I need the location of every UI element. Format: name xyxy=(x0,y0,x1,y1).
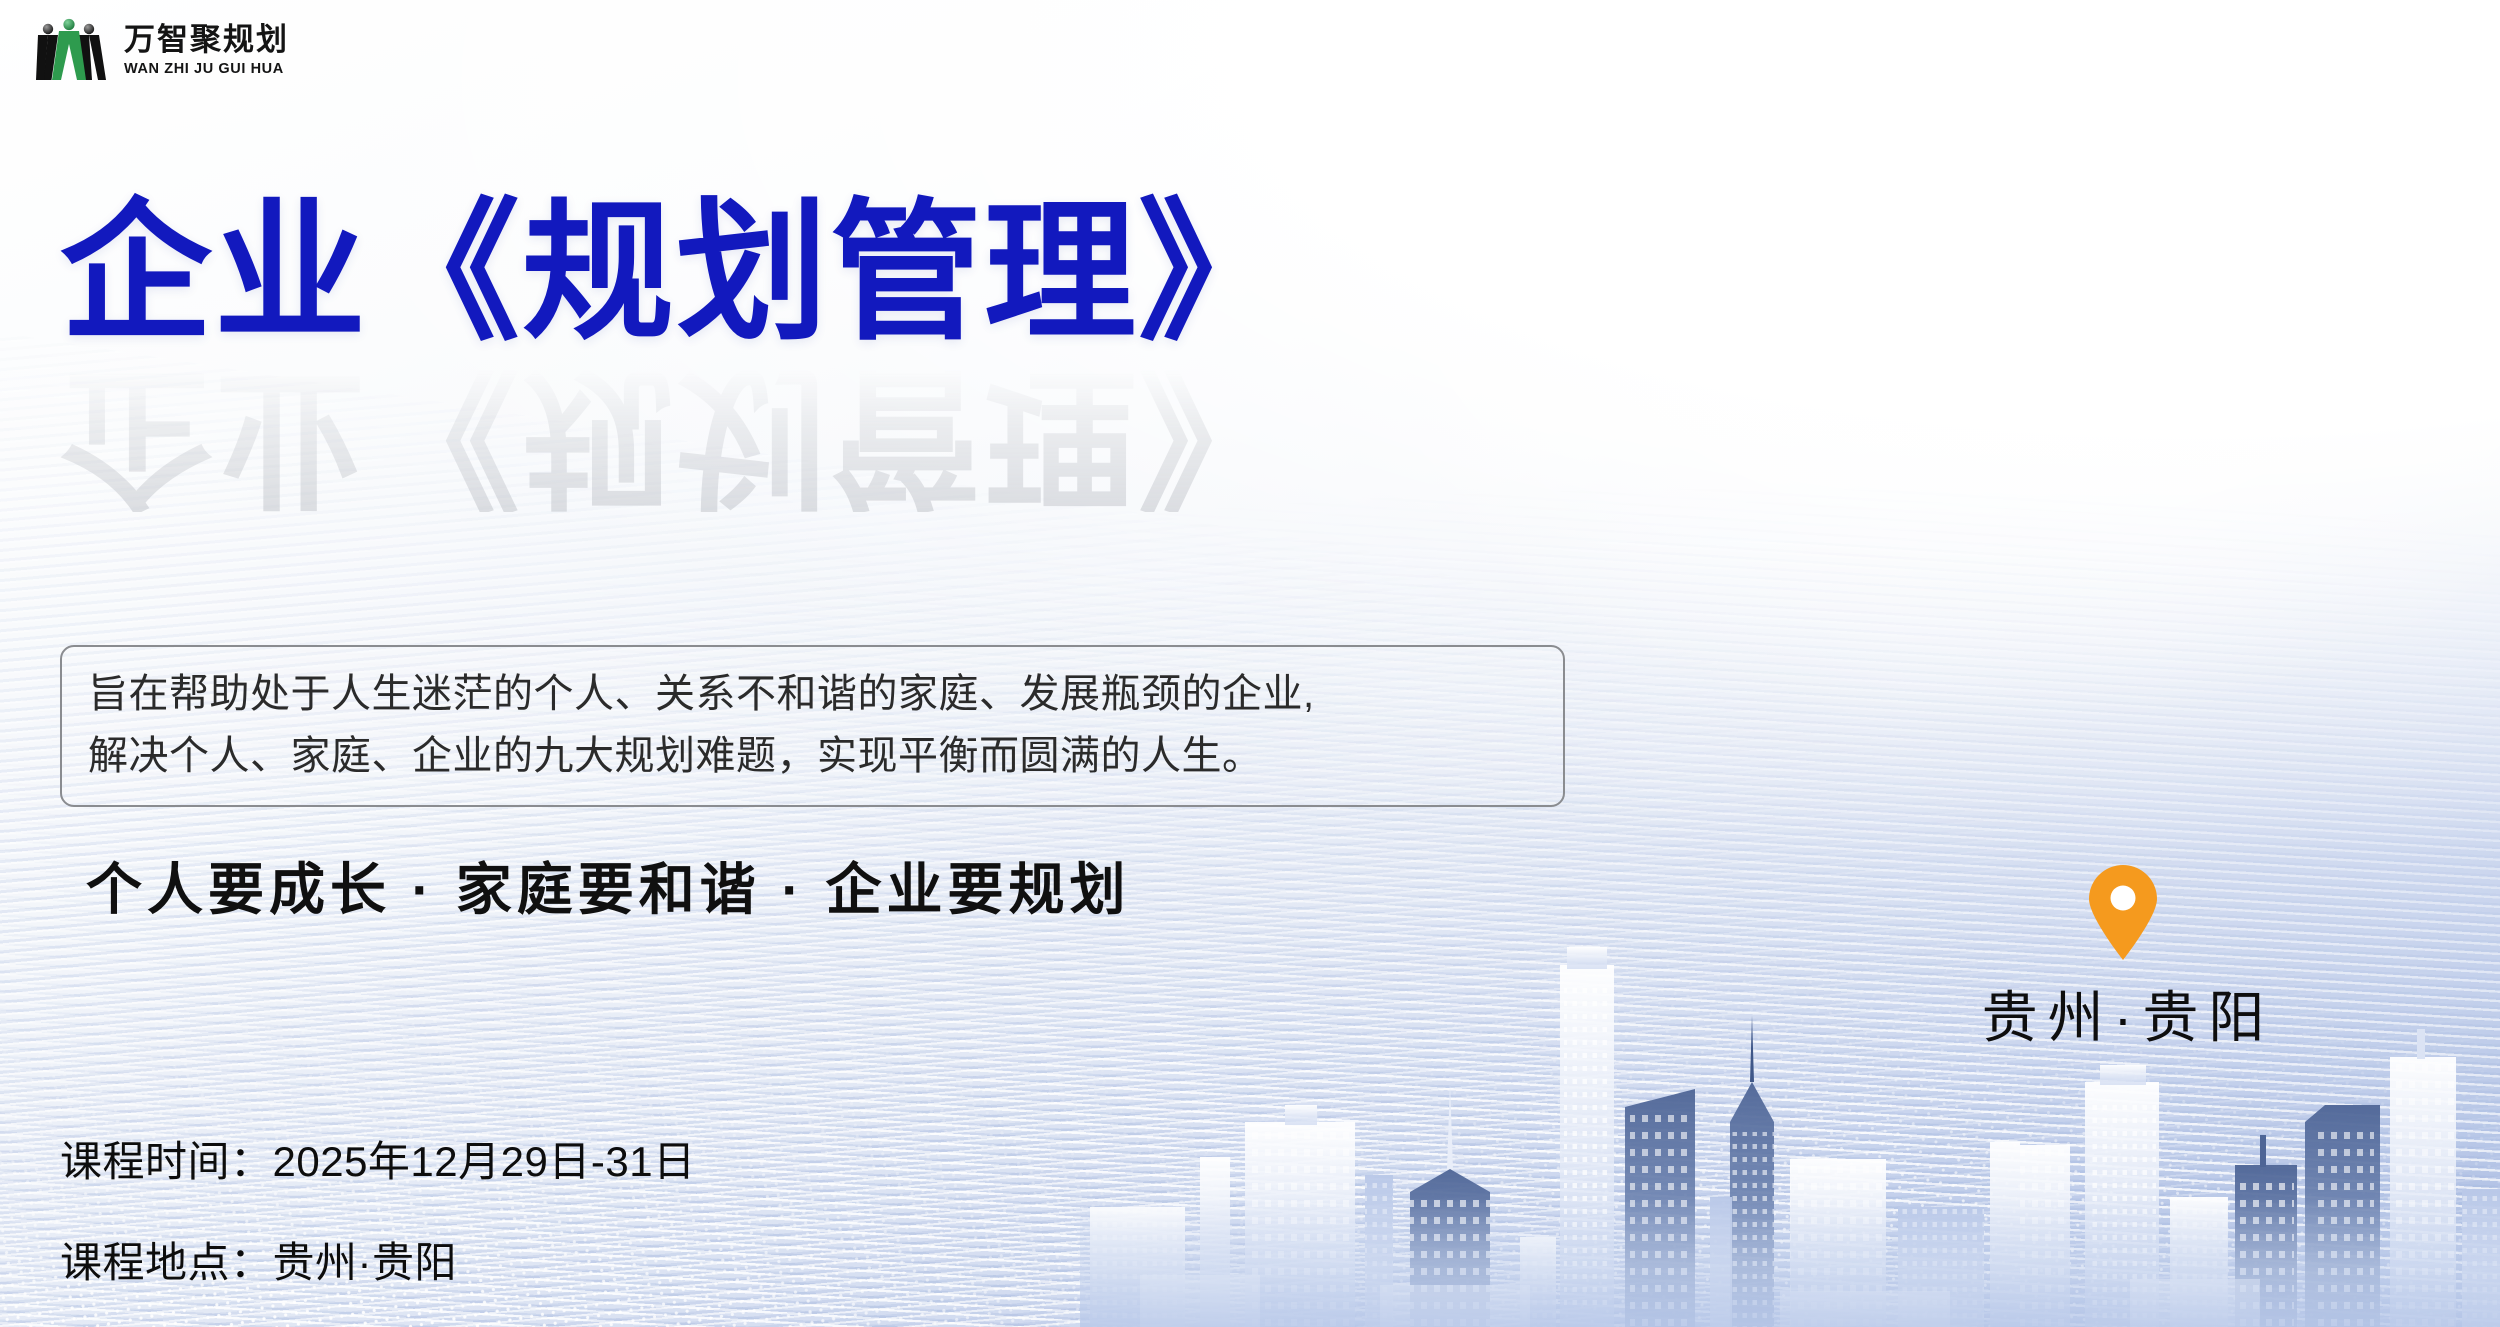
course-place: 课程地点：贵州·贵阳 xyxy=(60,1229,696,1290)
description-box: 旨在帮助处于人生迷茫的个人、关系不和谐的家庭、发展瓶颈的企业, 解决个人、家庭、… xyxy=(60,645,1565,807)
description-line-1: 旨在帮助处于人生迷茫的个人、关系不和谐的家庭、发展瓶颈的企业, xyxy=(88,663,1541,725)
map-pin-icon xyxy=(2086,865,2160,961)
slogan-text: 个人要成长 · 家庭要和谐 · 企业要规划 xyxy=(86,845,1131,926)
promo-poster: 万智聚规划 WAN ZHI JU GUI HUA 企业《规划管理》 企业《规划管… xyxy=(0,0,2500,1327)
brand-name-en: WAN ZHI JU GUI HUA xyxy=(124,62,289,77)
page-title: 企业《规划管理》 xyxy=(60,196,1660,351)
brand-name-cn: 万智聚规划 xyxy=(124,24,289,55)
course-info: 课程时间：2025年12月29日-31日 课程地点：贵州·贵阳 xyxy=(60,1128,696,1290)
brand-logo-text: 万智聚规划 WAN ZHI JU GUI HUA xyxy=(124,24,289,77)
course-time: 课程时间：2025年12月29日-31日 xyxy=(60,1128,696,1189)
location-label: 贵州·贵阳 xyxy=(1958,973,2288,1054)
brand-logo: 万智聚规划 WAN ZHI JU GUI HUA xyxy=(34,18,289,82)
location-badge: 贵州·贵阳 xyxy=(1958,865,2288,1054)
skyline-bottom-fade xyxy=(1080,1197,2500,1327)
page-title-reflection: 企业《规划管理》 xyxy=(60,357,1660,512)
three-people-logo-icon xyxy=(34,18,110,82)
hero-title-block: 企业《规划管理》 企业《规划管理》 xyxy=(60,196,1660,506)
description-line-2: 解决个人、家庭、企业的九大规划难题，实现平衡而圆满的人生。 xyxy=(88,725,1541,787)
